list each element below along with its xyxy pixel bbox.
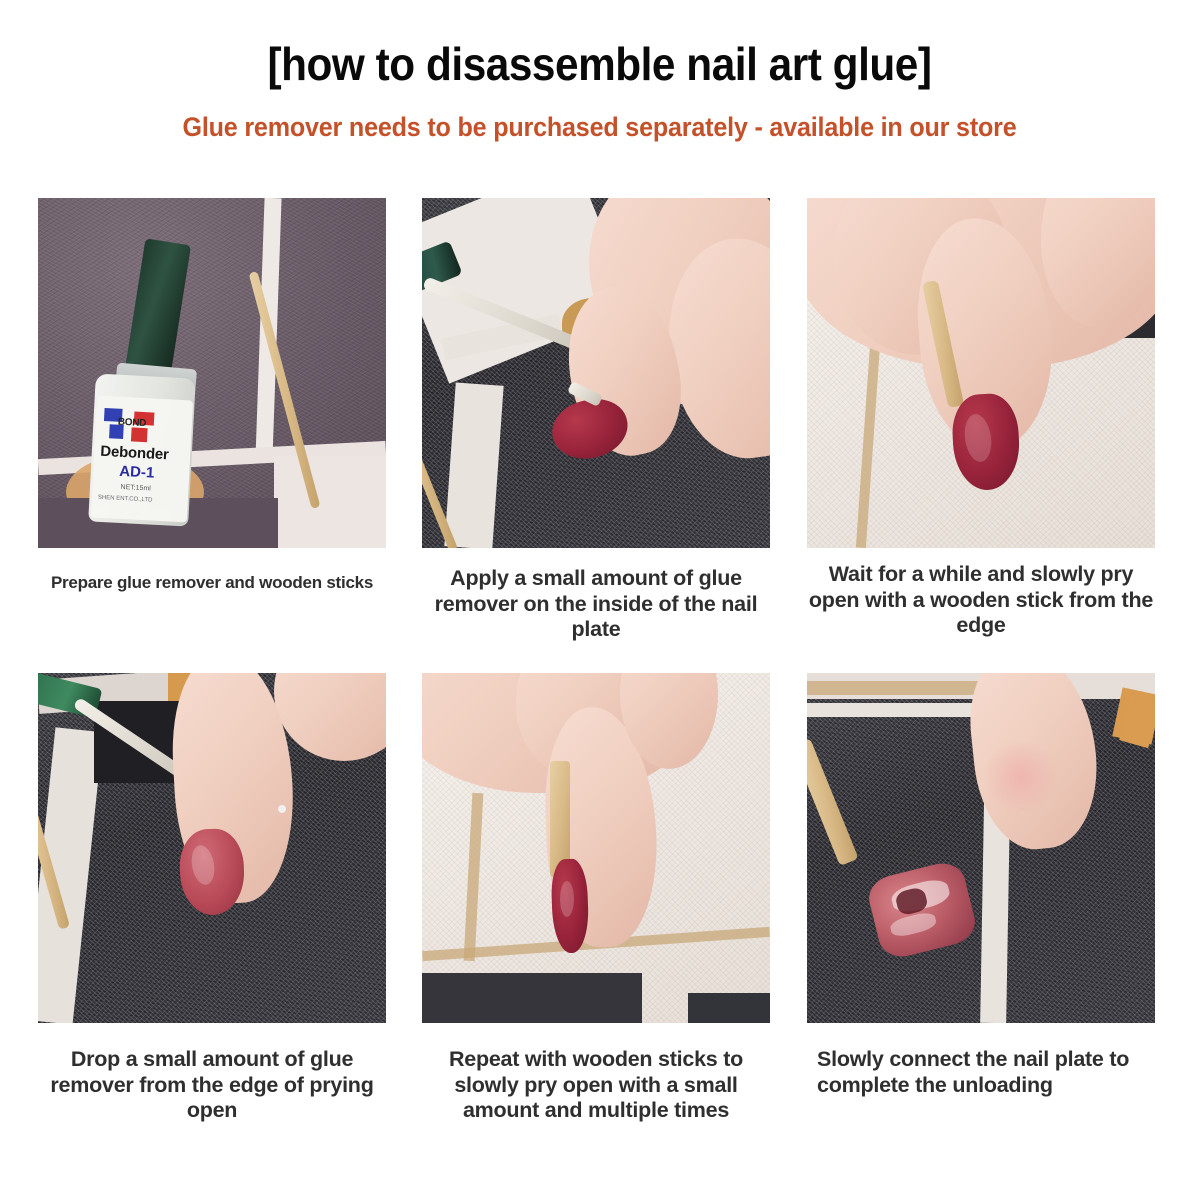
step-caption-5: Repeat with wooden sticks to slowly pry … [416, 1047, 776, 1124]
photo-dropping-remover-at-pried-edge [38, 673, 386, 1023]
towel-dark-bottom-right [688, 993, 770, 1023]
fingertip-blush [983, 739, 1059, 815]
step-caption-2: Apply a small amount of glue remover on … [416, 566, 776, 643]
step-caption-1: Prepare glue remover and wooden sticks [32, 572, 392, 594]
infographic-page: [how to disassemble nail art glue] Glue … [0, 0, 1199, 1200]
label-product-name: Debonder [100, 443, 169, 464]
step-caption-4: Drop a small amount of glue remover from… [32, 1047, 392, 1124]
label-logo-red-lower [131, 427, 148, 442]
label-brand-text: BOND [118, 417, 147, 429]
label-net-text: NET:15ml [120, 484, 151, 493]
photo-repeat-prying-with-wooden-stick [422, 673, 770, 1023]
mat-white-block [274, 456, 386, 548]
photo-glue-remover-bottle-and-sticks: BOND Debonder AD-1 NET:15ml SHEN ENT.CO.… [38, 198, 386, 548]
label-maker-text: SHEN ENT.CO.,LTD [98, 495, 153, 504]
dust-speck [278, 805, 286, 813]
nail-glue-residue-2 [889, 910, 938, 939]
photo-prying-nail-with-wooden-stick [807, 198, 1155, 548]
step-caption-3: Wait for a while and slowly pry open wit… [801, 562, 1161, 639]
step-caption-6: Slowly connect the nail plate to complet… [817, 1047, 1147, 1098]
nail-highlight [560, 881, 574, 917]
bottle-label: BOND Debonder AD-1 NET:15ml SHEN ENT.CO.… [91, 396, 193, 523]
photo-removed-nail-plate-complete [807, 673, 1155, 1023]
label-product-code: AD-1 [119, 463, 155, 482]
towel-dark-bottom [422, 973, 642, 1023]
steps-grid: BOND Debonder AD-1 NET:15ml SHEN ENT.CO.… [0, 0, 1199, 1200]
photo-applying-glue-remover-with-brush [422, 198, 770, 548]
